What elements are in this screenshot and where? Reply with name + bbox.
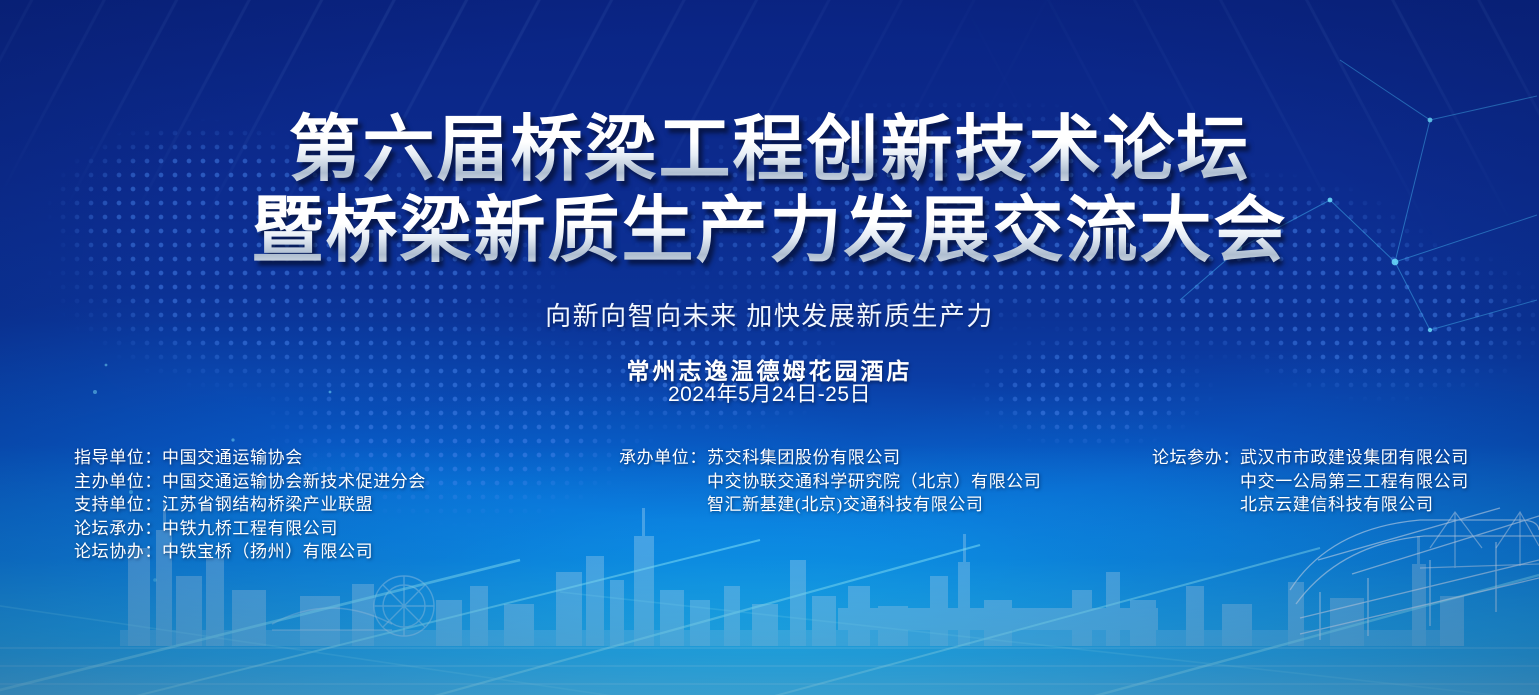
sponsor-value: 苏交科集团股份有限公司 — [707, 446, 901, 470]
title-block: 第六届桥梁工程创新技术论坛 暨桥梁新质生产力发展交流大会 — [0, 108, 1539, 271]
sponsor-label: 承办单位： — [619, 446, 707, 470]
sponsor-column-right: 论坛参办： 武汉市市政建设集团有限公司 论坛参办： 中交一公局第三工程有限公司 … — [1152, 446, 1469, 517]
sponsor-label: 支持单位： — [74, 493, 162, 517]
sponsor-value: 北京云建信科技有限公司 — [1240, 493, 1434, 517]
sponsor-column-center: 承办单位： 苏交科集团股份有限公司 承办单位： 中交协联交通科学研究院（北京）有… — [619, 446, 1041, 517]
sponsor-row: 论坛参办： 武汉市市政建设集团有限公司 — [1152, 446, 1469, 470]
title-line-1: 第六届桥梁工程创新技术论坛 — [0, 108, 1539, 189]
sponsor-row: 承办单位： 智汇新基建(北京)交通科技有限公司 — [619, 493, 1041, 517]
sponsor-label: 论坛参办： — [1152, 446, 1240, 470]
sponsor-value: 智汇新基建(北京)交通科技有限公司 — [707, 493, 984, 517]
sponsor-row: 论坛参办： 北京云建信科技有限公司 — [1152, 493, 1469, 517]
sponsor-value: 中国交通运输协会 — [162, 446, 303, 470]
event-dates: 2024年5月24日-25日 — [0, 378, 1539, 408]
banner-content: 第六届桥梁工程创新技术论坛 暨桥梁新质生产力发展交流大会 向新向智向未来 加快发… — [0, 0, 1539, 695]
conference-banner: 第六届桥梁工程创新技术论坛 暨桥梁新质生产力发展交流大会 向新向智向未来 加快发… — [0, 0, 1539, 695]
sponsor-value: 中铁宝桥（扬州）有限公司 — [162, 540, 373, 564]
sponsor-value: 中交协联交通科学研究院（北京）有限公司 — [707, 470, 1041, 494]
sponsor-columns: 指导单位： 中国交通运输协会 主办单位： 中国交通运输协会新技术促进分会 支持单… — [0, 446, 1539, 566]
sponsor-row: 论坛承办： 中铁九桥工程有限公司 — [74, 517, 426, 541]
sponsor-row: 论坛参办： 中交一公局第三工程有限公司 — [1152, 470, 1469, 494]
sponsor-row: 承办单位： 苏交科集团股份有限公司 — [619, 446, 1041, 470]
sponsor-row: 指导单位： 中国交通运输协会 — [74, 446, 426, 470]
sponsor-row: 承办单位： 中交协联交通科学研究院（北京）有限公司 — [619, 470, 1041, 494]
sponsor-row: 论坛协办： 中铁宝桥（扬州）有限公司 — [74, 540, 426, 564]
sponsor-row: 支持单位： 江苏省钢结构桥梁产业联盟 — [74, 493, 426, 517]
sponsor-row: 主办单位： 中国交通运输协会新技术促进分会 — [74, 470, 426, 494]
sponsor-label: 论坛协办： — [74, 540, 162, 564]
sponsor-column-left: 指导单位： 中国交通运输协会 主办单位： 中国交通运输协会新技术促进分会 支持单… — [74, 446, 426, 564]
sponsor-value: 武汉市市政建设集团有限公司 — [1240, 446, 1469, 470]
subtitle: 向新向智向未来 加快发展新质生产力 — [0, 296, 1539, 333]
title-line-2: 暨桥梁新质生产力发展交流大会 — [0, 189, 1539, 270]
sponsor-value: 中国交通运输协会新技术促进分会 — [162, 470, 426, 494]
sponsor-label: 论坛承办： — [74, 517, 162, 541]
sponsor-value: 中铁九桥工程有限公司 — [162, 517, 338, 541]
sponsor-value: 江苏省钢结构桥梁产业联盟 — [162, 493, 373, 517]
sponsor-label: 主办单位： — [74, 470, 162, 494]
sponsor-label: 指导单位： — [74, 446, 162, 470]
sponsor-value: 中交一公局第三工程有限公司 — [1240, 470, 1469, 494]
